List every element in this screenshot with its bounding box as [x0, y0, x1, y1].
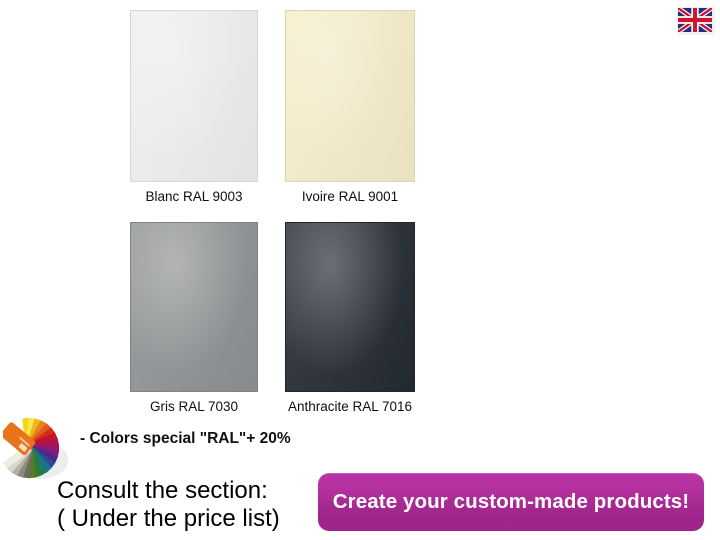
ral-color-fan-icon — [3, 418, 75, 480]
swatch-chip-gris[interactable] — [130, 222, 258, 392]
swatch-label-anthracite: Anthracite RAL 7016 — [285, 399, 415, 415]
swatch-chip-anthracite[interactable] — [285, 222, 415, 392]
swatch-anthracite[interactable]: Anthracite RAL 7016 — [285, 222, 415, 415]
swatch-label-blanc: Blanc RAL 9003 — [130, 189, 258, 205]
swatch-gris[interactable]: Gris RAL 7030 — [130, 222, 258, 415]
union-jack-flag-icon — [678, 8, 714, 32]
special-colors-note: - Colors special "RAL"+ 20% — [80, 429, 291, 449]
swatch-ivoire[interactable]: Ivoire RAL 9001 — [285, 10, 415, 205]
swatch-label-gris: Gris RAL 7030 — [130, 399, 258, 415]
swatch-label-ivoire: Ivoire RAL 9001 — [285, 189, 415, 205]
swatch-chip-ivoire[interactable] — [285, 10, 415, 182]
consult-line-2: ( Under the price list) — [57, 505, 280, 533]
swatch-chip-blanc[interactable] — [130, 10, 258, 182]
slide-root: Blanc RAL 9003 Ivoire RAL 9001 Gris RAL … — [0, 0, 720, 540]
consult-line-1: Consult the section: — [57, 477, 280, 505]
swatch-blanc[interactable]: Blanc RAL 9003 — [130, 10, 258, 205]
create-custom-products-button[interactable]: Create your custom-made products! — [318, 473, 704, 531]
language-flag-button[interactable] — [677, 7, 715, 35]
consult-section-text: Consult the section: ( Under the price l… — [57, 477, 280, 533]
